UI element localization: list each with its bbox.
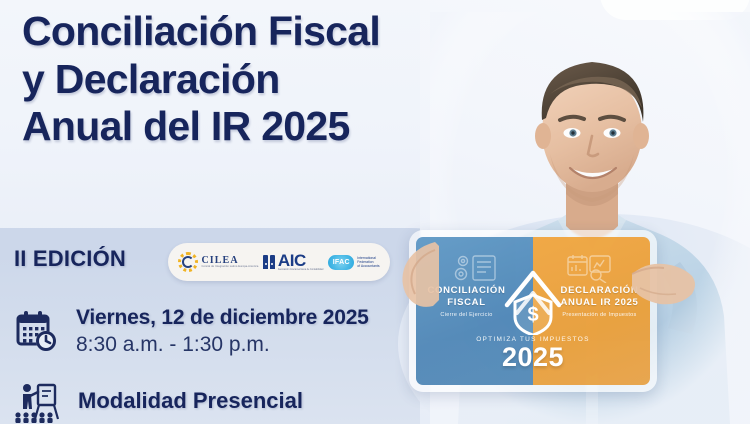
event-time: 8:30 a.m. - 1:30 p.m. — [76, 333, 369, 357]
cilea-subtitle: Comité de Integración Latino Europa-Amér… — [201, 266, 258, 269]
cilea-mark-icon — [178, 252, 198, 272]
aic-title: AIC — [278, 252, 323, 269]
tablet-device: CONCILIACIÓN FISCAL Cierre del Ejercicio — [409, 230, 657, 392]
tablet-right-subtitle: Presentación de Impuestos — [549, 312, 650, 318]
tablet-footer-caption: OPTIMIZA TUS IMPUESTOS — [416, 336, 650, 343]
tablet-footer: OPTIMIZA TUS IMPUESTOS 2025 — [416, 336, 650, 371]
left-hand — [395, 240, 443, 310]
edition-and-logos-row: II EDICIÓN CILEA Comité de Integración L… — [0, 245, 430, 285]
event-modality: Modalidad Presencial — [78, 388, 303, 414]
tablet-footer-year: 2025 — [416, 343, 650, 371]
event-modality-row: Modalidad Presencial — [14, 378, 434, 424]
ifac-mark-label: IFAC — [333, 259, 350, 266]
ifac-globe-icon: IFAC — [328, 255, 354, 270]
logo-ifac: IFAC International Federation of Account… — [328, 255, 379, 270]
headline-line-3: Anual del IR 2025 — [22, 103, 492, 151]
presenter-flipchart-icon — [14, 379, 60, 423]
calendar-chart-search-icon — [566, 253, 612, 288]
gears-document-icon — [454, 253, 500, 288]
tablet-left-subtitle: Cierre del Ejercicio — [416, 312, 517, 318]
headline-line-2: y Declaración — [22, 56, 492, 104]
logo-aic: AIC Asociación Interamericana de Contabi… — [263, 252, 323, 271]
event-date: Viernes, 12 de diciembre 2025 — [76, 306, 369, 330]
right-hand-pointing — [630, 252, 700, 308]
calendar-clock-icon — [14, 309, 58, 353]
poster-canvas: Conciliación Fiscal y Declaración Anual … — [0, 0, 750, 424]
logo-cilea: CILEA Comité de Integración Latino Europ… — [178, 252, 258, 272]
partner-logos-pill: CILEA Comité de Integración Latino Europ… — [168, 243, 390, 281]
edition-label: II EDICIÓN — [14, 246, 126, 272]
headline-line-1: Conciliación Fiscal — [22, 8, 492, 56]
event-date-row: Viernes, 12 de diciembre 2025 8:30 a.m. … — [14, 300, 434, 362]
aic-subtitle: Asociación Interamericana de Contabilida… — [278, 269, 323, 271]
poster-headline: Conciliación Fiscal y Declaración Anual … — [22, 8, 492, 151]
aic-books-icon — [263, 255, 275, 269]
ifac-line-3: of Accountants — [357, 264, 379, 268]
tablet-screen: CONCILIACIÓN FISCAL Cierre del Ejercicio — [416, 237, 650, 385]
